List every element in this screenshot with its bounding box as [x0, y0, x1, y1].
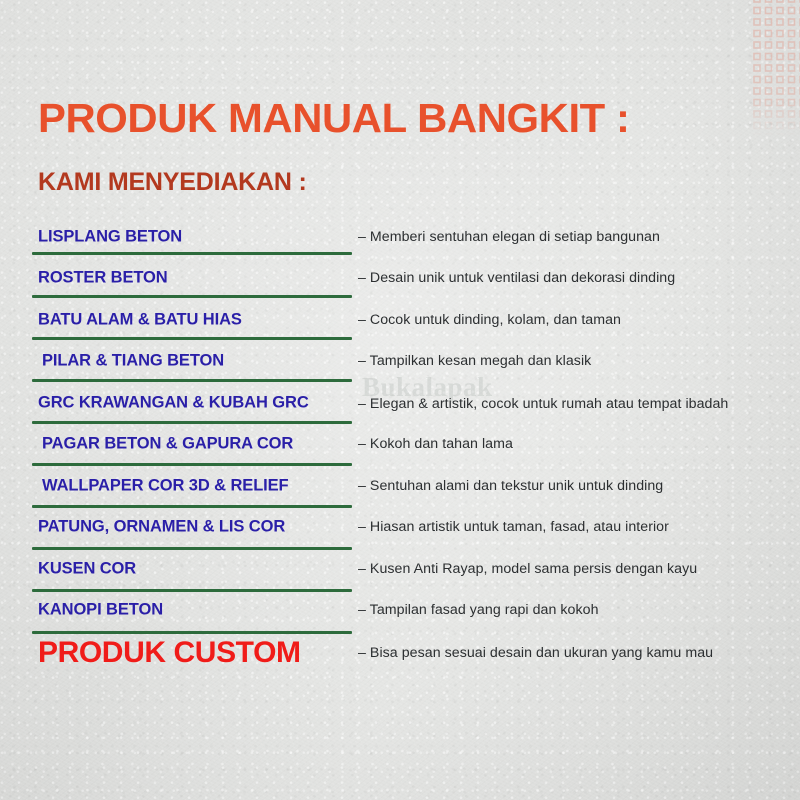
list-item: PATUNG, ORNAMEN & LIS COR – Hiasan artis…: [0, 507, 800, 549]
product-label: PILAR & TIANG BETON: [42, 352, 224, 371]
list-item: BATU ALAM & BATU HIAS – Cocok untuk dind…: [0, 299, 800, 341]
product-label: GRC KRAWANGAN & KUBAH GRC: [38, 393, 309, 412]
product-label: LISPLANG BETON: [38, 227, 182, 246]
section-subtitle: KAMI MENYEDIAKAN :: [38, 168, 307, 197]
list-item: WALLPAPER COR 3D & RELIEF – Sentuhan ala…: [0, 465, 800, 507]
product-label-custom: PRODUK CUSTOM: [38, 636, 301, 670]
product-label: KANOPI BETON: [38, 601, 163, 620]
list-item: ROSTER BETON – Desain unik untuk ventila…: [0, 258, 800, 300]
list-item: PAGAR BETON & GAPURA COR – Kokoh dan tah…: [0, 424, 800, 466]
product-label: PATUNG, ORNAMEN & LIS COR: [38, 518, 285, 537]
product-label: PAGAR BETON & GAPURA COR: [42, 435, 293, 454]
list-item: GRC KRAWANGAN & KUBAH GRC – Elegan & art…: [0, 382, 800, 424]
product-label: KUSEN COR: [38, 559, 136, 578]
product-description: – Tampilan fasad yang rapi dan kokoh: [358, 600, 788, 620]
list-item: KUSEN COR – Kusen Anti Rayap, model sama…: [0, 548, 800, 590]
product-description: – Elegan & artistik, cocok untuk rumah a…: [358, 394, 788, 414]
list-item: KANOPI BETON – Tampilan fasad yang rapi …: [0, 590, 800, 632]
product-description: – Kusen Anti Rayap, model sama persis de…: [358, 559, 788, 579]
product-label: ROSTER BETON: [38, 269, 168, 288]
poster-canvas: PRODUK MANUAL BANGKIT : KAMI MENYEDIAKAN…: [0, 0, 800, 800]
product-description: – Bisa pesan sesuai desain dan ukuran ya…: [358, 643, 788, 663]
product-label: WALLPAPER COR 3D & RELIEF: [42, 476, 289, 495]
page-title: PRODUK MANUAL BANGKIT :: [38, 95, 630, 142]
list-item-custom: PRODUK CUSTOM – Bisa pesan sesuai desain…: [0, 631, 800, 675]
product-description: – Kokoh dan tahan lama: [358, 434, 788, 454]
product-list: LISPLANG BETON – Memberi sentuhan elegan…: [0, 216, 800, 675]
row-divider: [32, 295, 352, 298]
product-description: – Hiasan artistik untuk taman, fasad, at…: [358, 517, 788, 537]
list-item: PILAR & TIANG BETON – Tampilkan kesan me…: [0, 341, 800, 383]
product-description: – Tampilkan kesan megah dan klasik: [358, 351, 788, 371]
product-description: – Desain unik untuk ventilasi dan dekora…: [358, 268, 788, 288]
product-description: – Cocok untuk dinding, kolam, dan taman: [358, 310, 788, 330]
product-description: – Memberi sentuhan elegan di setiap bang…: [358, 227, 788, 247]
product-description: – Sentuhan alami dan tekstur unik untuk …: [358, 476, 788, 496]
product-label: BATU ALAM & BATU HIAS: [38, 310, 242, 329]
row-divider: [32, 252, 352, 255]
